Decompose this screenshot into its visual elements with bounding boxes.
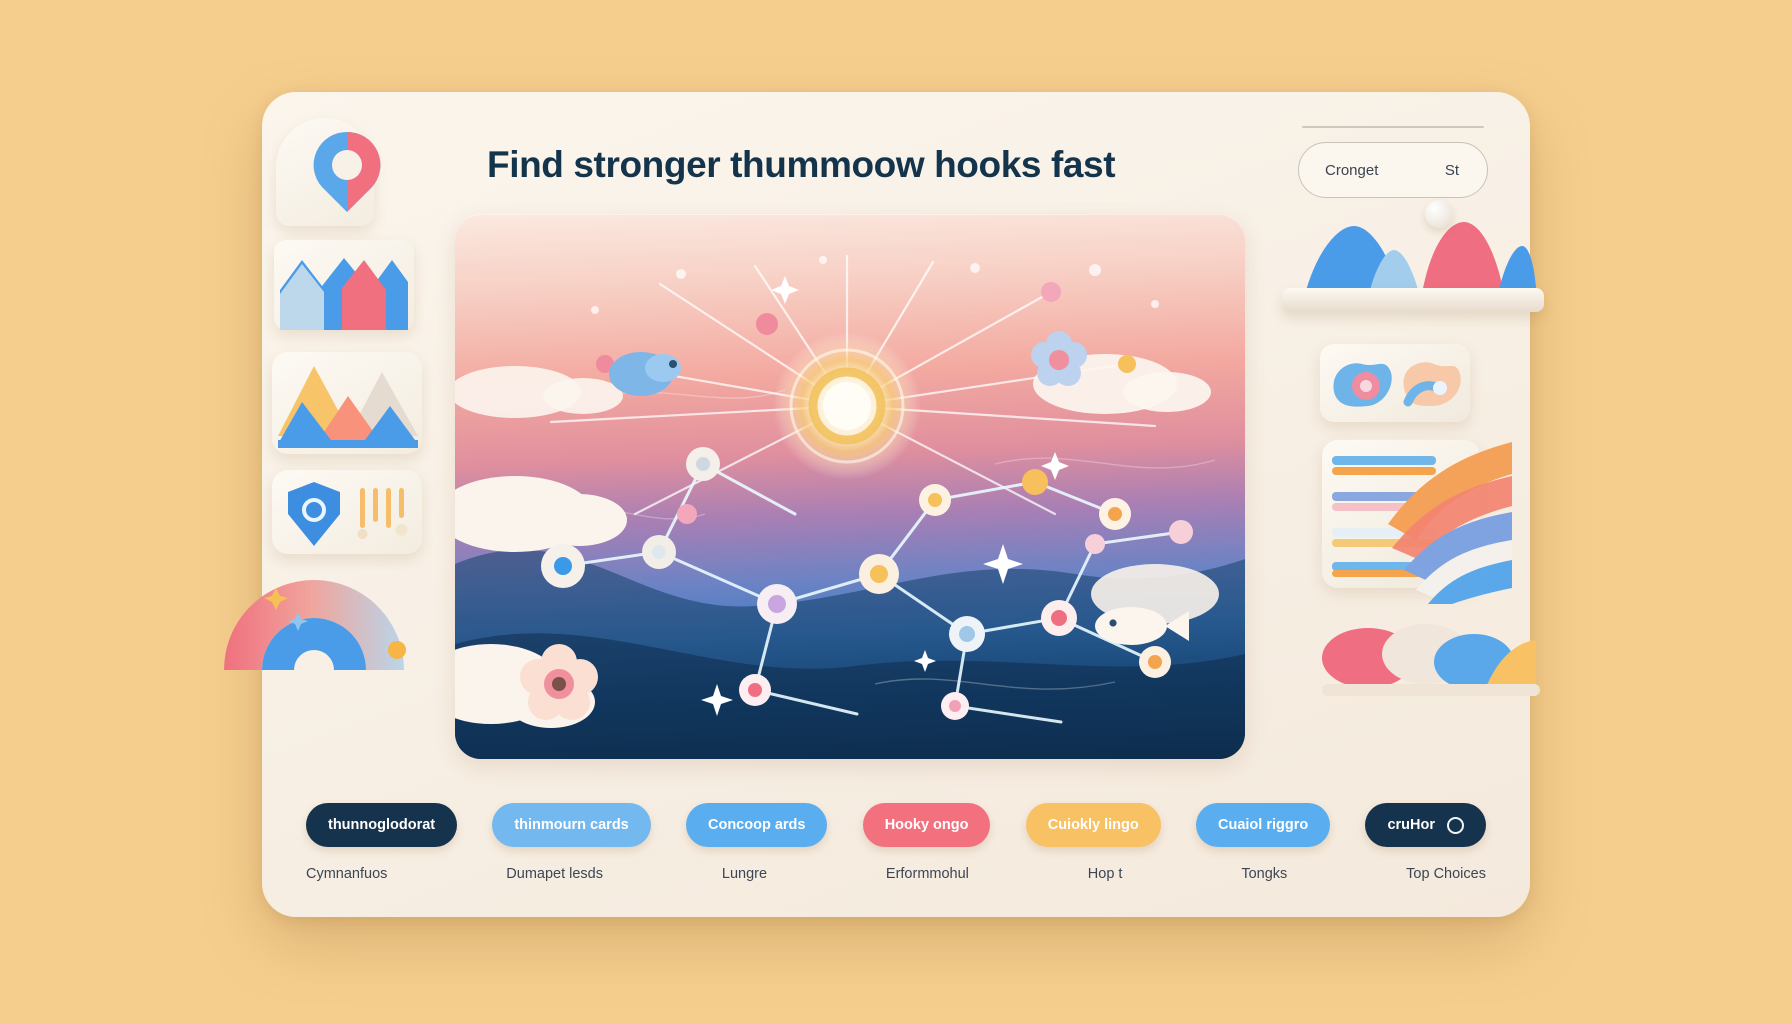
cloud-cluster-icon xyxy=(1322,604,1540,696)
header-divider-rule xyxy=(1302,126,1484,128)
filter-chip[interactable]: Hooky ongo xyxy=(863,803,991,847)
search-pill[interactable]: Cronget St xyxy=(1298,142,1488,198)
network-constellation-graphic xyxy=(455,214,1245,759)
location-pin-donut-icon xyxy=(306,128,388,216)
caption-label: Erformmohul xyxy=(886,866,969,882)
area-chart-icon xyxy=(274,244,414,334)
mountains-icon xyxy=(278,360,418,452)
app-window-card: Find stronger thummoow hooks fast Cronge… xyxy=(262,92,1530,917)
page-title: Find stronger thummoow hooks fast xyxy=(487,144,1247,186)
hub-node-glow xyxy=(773,332,921,480)
caption-label: Dumapet lesds xyxy=(506,866,603,882)
shelf-bar xyxy=(1282,288,1544,312)
search-pill-label: Cronget xyxy=(1325,162,1378,179)
caption-row: Cymnanfuos Dumapet lesds Lungre Erformmo… xyxy=(306,860,1486,888)
search-pill-trailing-label: St xyxy=(1445,162,1459,179)
filter-chip[interactable]: thunnoglodorat xyxy=(306,803,457,847)
filter-chip-label: thunnoglodorat xyxy=(328,817,435,833)
caption-label: Lungre xyxy=(722,866,767,882)
shield-icon xyxy=(284,480,344,548)
caption-label: Top Choices xyxy=(1406,866,1486,882)
bird-shape xyxy=(609,352,681,396)
caption-label: Tongks xyxy=(1241,866,1287,882)
rainbow-arc-icon xyxy=(216,562,412,672)
sliders-icon xyxy=(356,484,412,544)
filter-chip-label: Concoop ards xyxy=(708,817,805,833)
caption-label: Hop t xyxy=(1088,866,1123,882)
hero-illustration-canvas xyxy=(455,214,1245,759)
circle-ring-icon xyxy=(1447,817,1464,834)
filter-chip[interactable]: Cuaiol riggro xyxy=(1196,803,1330,847)
filter-chip-with-ring[interactable]: cruHor xyxy=(1365,803,1486,847)
filter-chip-label: Hooky ongo xyxy=(885,817,969,833)
flower-shape-secondary xyxy=(1031,331,1087,386)
filter-chip-label: Cuiokly lingo xyxy=(1048,817,1139,833)
filter-chip-row: thunnoglodorat thinmourn cards Concoop a… xyxy=(306,802,1486,848)
filter-chip[interactable]: Concoop ards xyxy=(686,803,827,847)
filter-chip-label: Cuaiol riggro xyxy=(1218,817,1308,833)
paired-blob-icons xyxy=(1324,348,1466,418)
shelf-knob xyxy=(1425,200,1453,228)
caption-label: Cymnanfuos xyxy=(306,866,387,882)
filter-chip[interactable]: Cuiokly lingo xyxy=(1026,803,1161,847)
filter-chip-label: thinmourn cards xyxy=(514,817,628,833)
filter-chip[interactable]: thinmourn cards xyxy=(492,803,650,847)
filter-chip-label: cruHor xyxy=(1387,817,1435,833)
ribbon-curves-icon xyxy=(1382,428,1517,604)
